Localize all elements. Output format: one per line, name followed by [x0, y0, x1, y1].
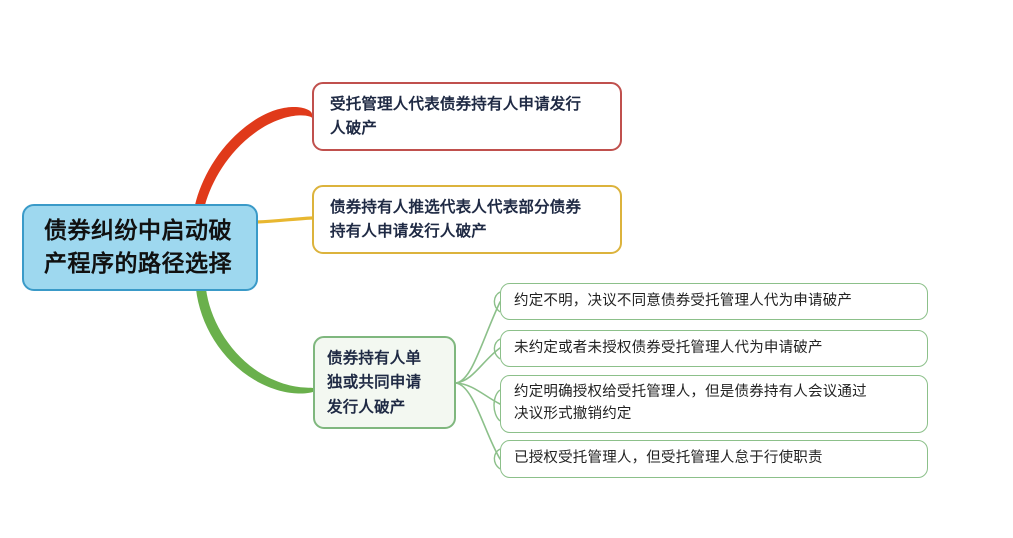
branch-node-trustee-application[interactable]: 受托管理人代表债券持有人申请发行 人破产 — [312, 82, 622, 151]
mindmap-canvas: 债券纠纷中启动破 产程序的路径选择 受托管理人代表债券持有人申请发行 人破产 债… — [0, 0, 1013, 538]
leaf-3-label: 约定明确授权给受托管理人，但是债券持有人会议通过 决议形式撤销约定 — [514, 382, 917, 426]
connector-root-to-branch-3 — [196, 289, 313, 394]
root-node[interactable]: 债券纠纷中启动破 产程序的路径选择 — [22, 204, 258, 291]
root-node-label: 债券纠纷中启动破 产程序的路径选择 — [44, 215, 246, 280]
leaf-1-label: 约定不明，决议不同意债券受托管理人代为申请破产 — [514, 291, 917, 313]
connector-root-to-branch-1 — [195, 107, 312, 205]
leaf-node-unclear-agreement[interactable]: 约定不明，决议不同意债券受托管理人代为申请破产 — [500, 283, 928, 320]
connector-branch3-to-leaf-3 — [456, 383, 500, 404]
branch-1-label: 受托管理人代表债券持有人申请发行 人破产 — [330, 93, 608, 140]
connector-branch3-to-leaf-2 — [456, 348, 500, 383]
leaf-node-no-authorization[interactable]: 未约定或者未授权债券受托管理人代为申请破产 — [500, 330, 928, 367]
connector-branch3-to-leaf-1 — [456, 302, 500, 383]
branch-2-label: 债券持有人推选代表人代表部分债券 持有人申请发行人破产 — [330, 196, 608, 243]
leaf-node-trustee-negligent[interactable]: 已授权受托管理人，但受托管理人怠于行使职责 — [500, 440, 928, 478]
connector-root-to-branch-2 — [257, 218, 312, 222]
connector-branch3-to-leaf-4 — [456, 383, 500, 459]
leaf-4-label: 已授权受托管理人，但受托管理人怠于行使职责 — [514, 448, 917, 470]
branch-3-label: 债券持有人单 独或共同申请 发行人破产 — [327, 346, 446, 419]
branch-node-holder-application[interactable]: 债券持有人单 独或共同申请 发行人破产 — [313, 336, 456, 429]
leaf-node-authorization-revoked[interactable]: 约定明确授权给受托管理人，但是债券持有人会议通过 决议形式撤销约定 — [500, 375, 928, 433]
branch-node-representative-application[interactable]: 债券持有人推选代表人代表部分债券 持有人申请发行人破产 — [312, 185, 622, 254]
leaf-2-label: 未约定或者未授权债券受托管理人代为申请破产 — [514, 338, 917, 360]
